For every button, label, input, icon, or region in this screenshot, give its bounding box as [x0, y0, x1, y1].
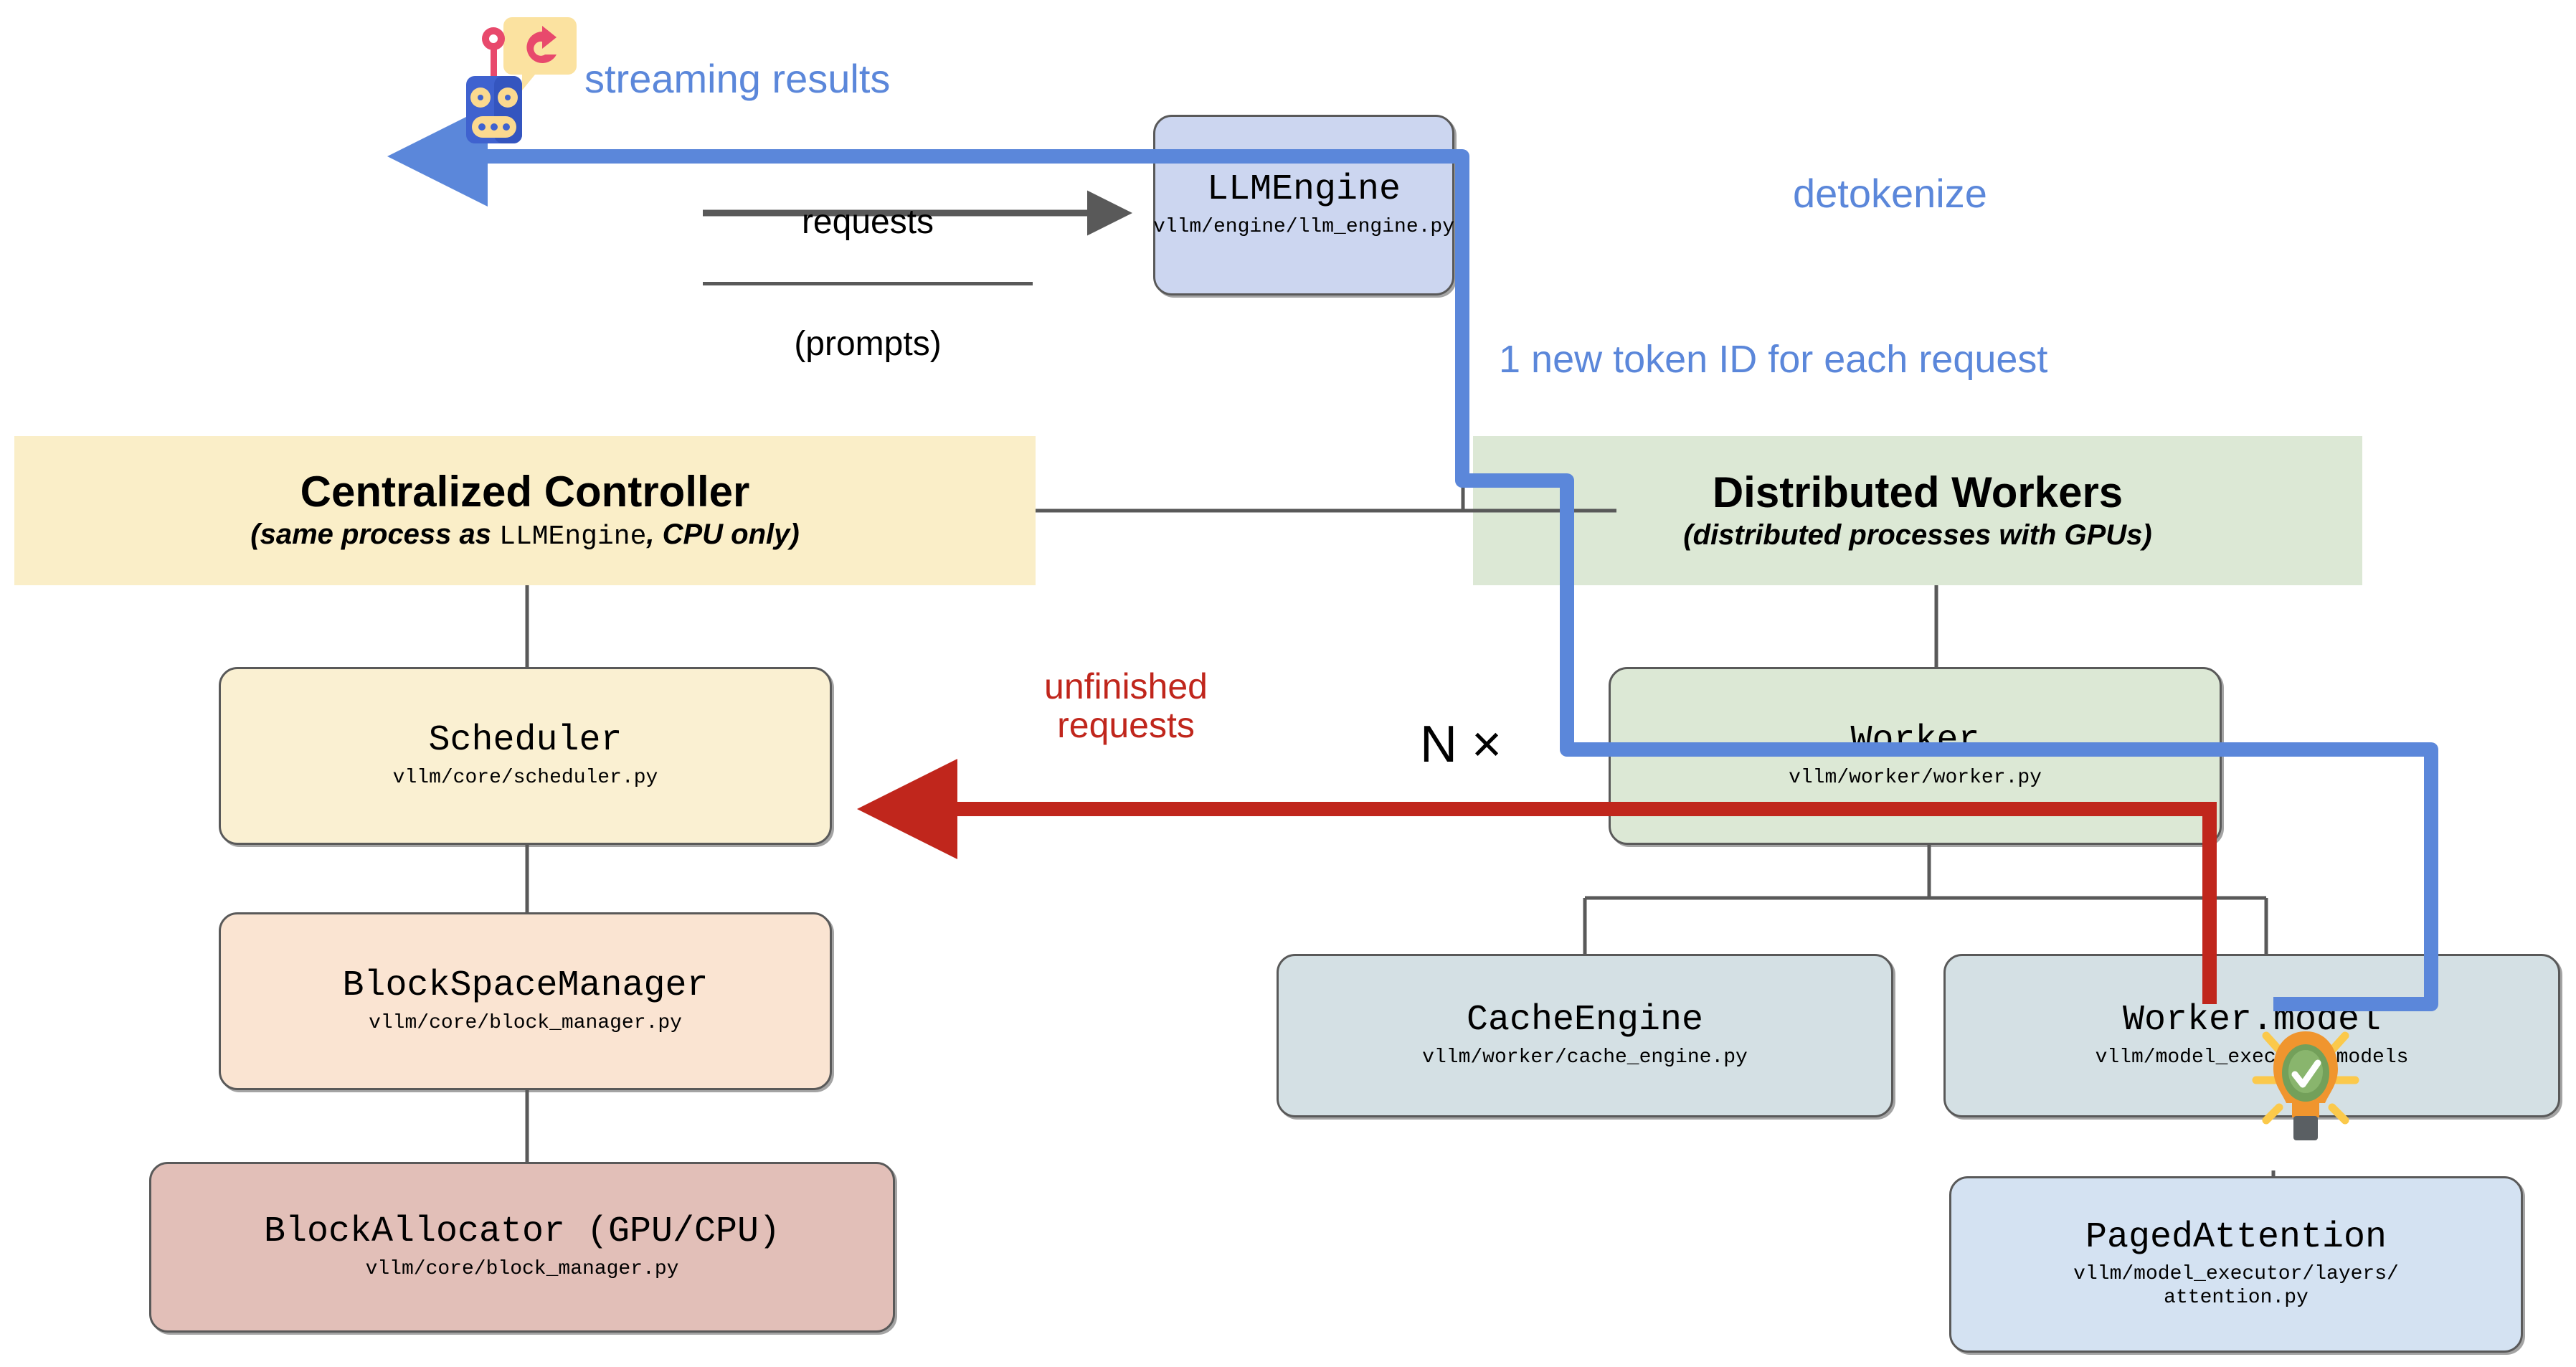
robot-icon: [456, 7, 592, 151]
lightbulb-icon-svg: [2245, 1011, 2367, 1155]
robot-icon-svg: [456, 7, 592, 151]
label-requests-rule: [703, 282, 1033, 285]
label-n-times: N ×: [1420, 717, 1502, 773]
lightbulb-neck: [2292, 1102, 2319, 1117]
lightbulb-base: [2293, 1116, 2318, 1140]
label-detokenize: detokenize: [1793, 172, 1987, 215]
arrow-unfinished-requests: [871, 809, 2210, 1004]
red-flow-path: [871, 809, 2210, 1004]
label-requests: requests: [703, 204, 1033, 241]
label-prompts: (prompts): [703, 326, 1033, 363]
robot-mouth-dot-2: [491, 123, 498, 131]
label-streaming-results: streaming results: [584, 57, 890, 100]
robot-antenna-ball-inner: [489, 34, 498, 43]
robot-pupil-right: [505, 95, 511, 100]
robot-mouth-dot-1: [478, 123, 486, 131]
flow-arrows: [0, 0, 2576, 1367]
diagram-canvas: Centralized Controller (same process as …: [0, 0, 2576, 1367]
robot-pupil-left: [478, 95, 483, 100]
label-new-token-id: 1 new token ID for each request: [1499, 339, 2047, 380]
lightbulb-icon: [2245, 1011, 2367, 1155]
label-unfinished-requests: unfinished requests: [982, 667, 1269, 744]
robot-mouth-dot-3: [503, 123, 510, 131]
label-requests-prompts: requests (prompts): [703, 166, 1033, 400]
